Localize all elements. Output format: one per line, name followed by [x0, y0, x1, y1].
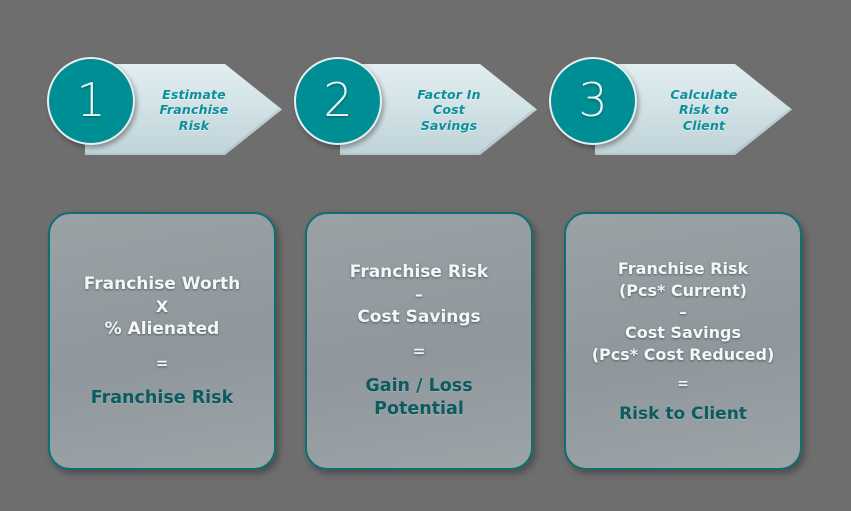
formula-line: (Pcs* Cost Reduced) — [592, 344, 775, 366]
formula-result: Gain / Loss — [365, 375, 472, 398]
formula-box-3[interactable]: Franchise Risk (Pcs* Current) – Cost Sav… — [564, 212, 802, 470]
diagram-canvas: Estimate Franchise Risk 1 Factor In Cost… — [0, 0, 851, 511]
formula-line: = — [413, 341, 426, 361]
formula-line: % Alienated — [105, 318, 220, 341]
formula-line: = — [677, 373, 689, 395]
formula-line: (Pcs* Current) — [619, 280, 747, 302]
step-number-circle-3[interactable]: 3 — [549, 57, 637, 145]
formula-line: = — [156, 353, 169, 373]
formula-result: Risk to Client — [619, 403, 747, 425]
formula-line: Franchise Risk — [350, 261, 488, 284]
formula-result: Potential — [374, 398, 464, 421]
formula-line: Cost Savings — [625, 322, 741, 344]
formula-line: Cost Savings — [357, 306, 480, 329]
formula-line: Franchise Worth — [84, 273, 241, 296]
step-number-circle-1[interactable]: 1 — [47, 57, 135, 145]
formula-line: Franchise Risk — [618, 258, 748, 280]
step-number-1: 1 — [76, 77, 105, 123]
step-number-circle-2[interactable]: 2 — [294, 57, 382, 145]
step-number-2: 2 — [323, 77, 352, 123]
formula-result: Franchise Risk — [91, 387, 233, 410]
formula-line: – — [679, 302, 687, 322]
formula-box-2[interactable]: Franchise Risk – Cost Savings = Gain / L… — [305, 212, 533, 470]
formula-box-1[interactable]: Franchise Worth X % Alienated = Franchis… — [48, 212, 276, 470]
step-number-3: 3 — [578, 77, 607, 123]
formula-line: – — [415, 284, 423, 306]
formula-line: X — [156, 296, 168, 318]
